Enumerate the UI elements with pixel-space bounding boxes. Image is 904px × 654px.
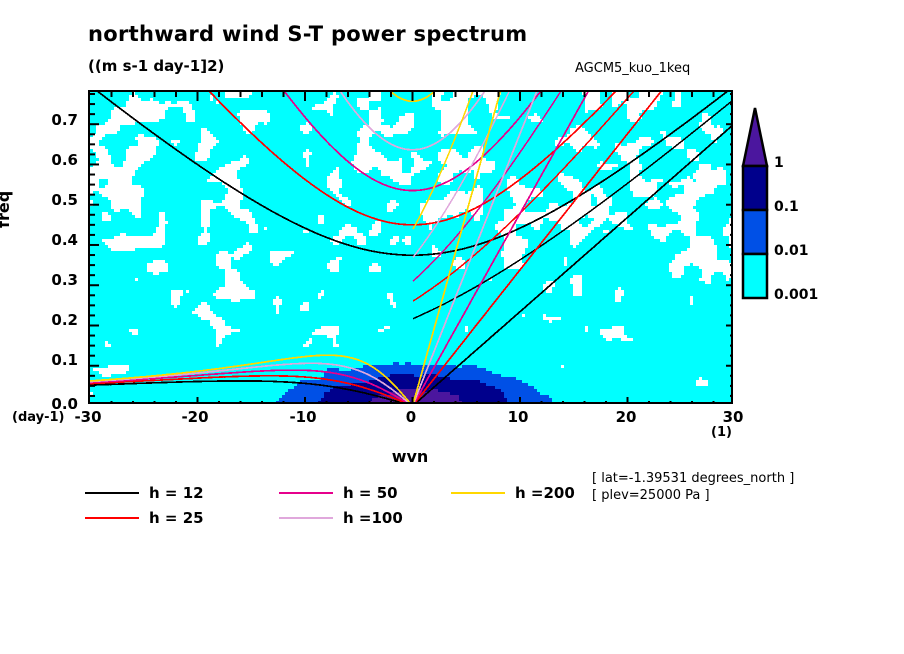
legend-swatch-h100 xyxy=(279,517,333,519)
ytick-label: 0.4 xyxy=(26,231,78,249)
x-axis-label: wvn xyxy=(0,447,820,466)
legend-item: h = 50 xyxy=(279,483,398,502)
figure-canvas: northward wind S-T power spectrum ((m s-… xyxy=(0,0,904,654)
colorbar-label: 1 xyxy=(774,155,784,171)
legend-item: h =200 xyxy=(451,483,575,502)
ytick-label: 0.3 xyxy=(26,271,78,289)
spectrum-contour-plot xyxy=(90,92,733,404)
spectrum-plot-area xyxy=(88,90,733,404)
metadata-annotations: [ lat=-1.39531 degrees_north ] [ plev=25… xyxy=(592,470,794,504)
colorbar: 1 0.1 0.01 0.001 xyxy=(740,100,800,304)
ytick-label: 0.2 xyxy=(26,311,78,329)
plev-annotation: [ plev=25000 Pa ] xyxy=(592,487,794,504)
xtick-label: 30 xyxy=(707,408,759,426)
xtick-label: -30 xyxy=(62,408,114,426)
legend-label: h =100 xyxy=(343,509,403,527)
legend-label: h = 50 xyxy=(343,484,398,502)
legend-label: h = 12 xyxy=(149,484,204,502)
ytick-label: 0.5 xyxy=(26,191,78,209)
lat-annotation: [ lat=-1.39531 degrees_north ] xyxy=(592,470,794,487)
xtick-label: -20 xyxy=(169,408,221,426)
ytick-label: 0.1 xyxy=(26,351,78,369)
x-axis-units: (1) xyxy=(711,425,732,440)
contour-field xyxy=(90,92,733,404)
xtick-label: -10 xyxy=(277,408,329,426)
legend-item: h = 12 xyxy=(85,483,204,502)
legend-item: h =100 xyxy=(279,508,403,527)
legend-swatch-h25 xyxy=(85,517,139,519)
legend-label: h =200 xyxy=(515,484,575,502)
xtick-label: 10 xyxy=(492,408,544,426)
legend-label: h = 25 xyxy=(149,509,204,527)
dataset-label: AGCM5_kuo_1keq xyxy=(575,61,690,76)
y-axis-units: (day-1) xyxy=(12,410,64,425)
legend-item: h = 25 xyxy=(85,508,204,527)
legend-swatch-h50 xyxy=(279,492,333,494)
y-axis-label: freq xyxy=(0,191,13,228)
ytick-label: 0.6 xyxy=(26,151,78,169)
page-title: northward wind S-T power spectrum xyxy=(88,22,527,46)
xtick-label: 20 xyxy=(600,408,652,426)
xtick-label: 0 xyxy=(385,408,437,426)
colorbar-label: 0.01 xyxy=(774,243,809,259)
colorbar-label: 0.001 xyxy=(774,287,818,303)
colorbar-label: 0.1 xyxy=(774,199,799,215)
legend-swatch-h12 xyxy=(85,492,139,494)
ytick-label: 0.7 xyxy=(26,111,78,129)
legend-swatch-h200 xyxy=(451,492,505,494)
units-label: ((m s-1 day-1]2) xyxy=(88,57,224,75)
